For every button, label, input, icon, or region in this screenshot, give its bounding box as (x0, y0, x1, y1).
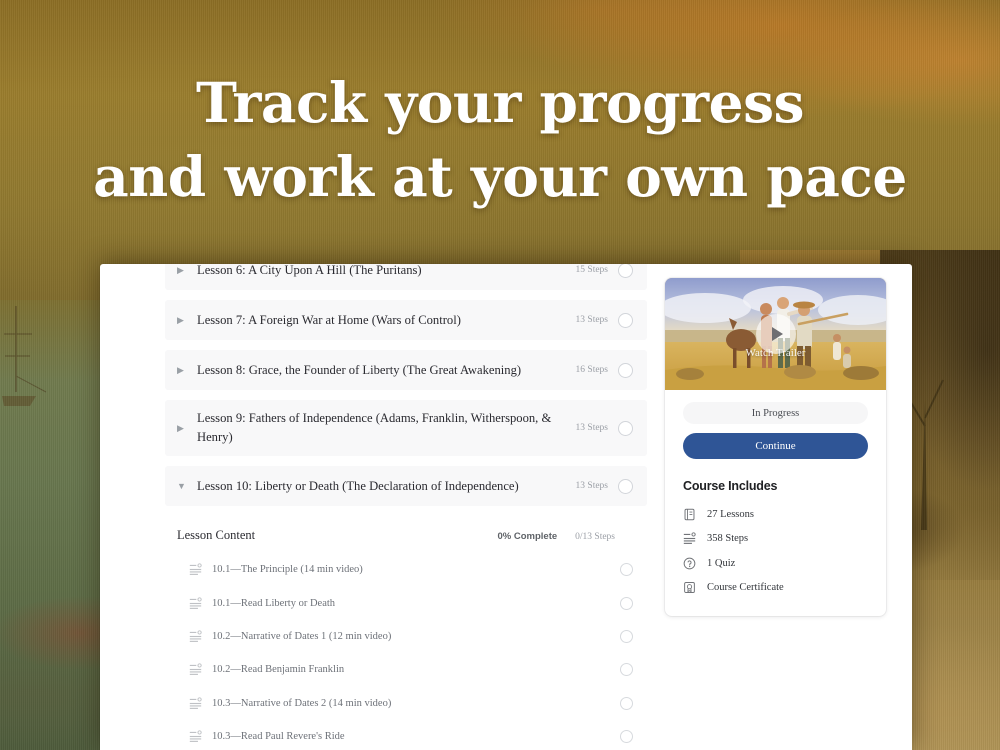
list-item[interactable]: 10.3—Narrative of Dates 2 (14 min video) (165, 687, 647, 720)
step-completion-ring[interactable] (620, 630, 633, 643)
lesson-title: Lesson 6: A City Upon A Hill (The Purita… (197, 264, 564, 280)
lesson-row[interactable]: ▶ Lesson 8: Grace, the Founder of Libert… (165, 350, 647, 390)
lesson-row[interactable]: ▶ Lesson 7: A Foreign War at Home (Wars … (165, 300, 647, 340)
list-item[interactable]: 10.1—Read Liberty or Death (165, 586, 647, 619)
lesson-step-count: 16 Steps (564, 363, 618, 377)
includes-label: 1 Quiz (707, 558, 735, 569)
page-headline: Track your progress and work at your own… (0, 66, 1000, 214)
step-completion-ring[interactable] (620, 697, 633, 710)
lesson-completion-ring[interactable] (618, 479, 633, 494)
step-completion-ring[interactable] (620, 663, 633, 676)
step-label: 10.1—The Principle (14 min video) (212, 564, 620, 575)
course-sidebar-column: Watch Trailer In Progress Continue Cours… (665, 264, 912, 750)
steps-icon (189, 597, 202, 610)
steps-icon (189, 663, 202, 676)
list-item[interactable]: 10.3—Read Paul Revere's Ride (165, 720, 647, 750)
background-stage: Track your progress and work at your own… (0, 0, 1000, 750)
includes-label: 27 Lessons (707, 509, 754, 520)
lesson-completion-ring[interactable] (618, 363, 633, 378)
lesson-title: Lesson 8: Grace, the Founder of Liberty … (197, 361, 564, 380)
book-icon (683, 508, 696, 521)
status-badge: In Progress (683, 402, 868, 424)
lesson-step-list: 10.1—The Principle (14 min video) 10.1—R… (100, 553, 665, 750)
step-label: 10.2—Narrative of Dates 1 (12 min video) (212, 631, 620, 642)
course-info-card: Watch Trailer In Progress Continue Cours… (665, 278, 886, 616)
list-item: 1 Quiz (683, 551, 868, 576)
course-card-body: In Progress Continue Course Includes 27 … (665, 390, 886, 600)
chevron-right-icon[interactable]: ▶ (177, 366, 189, 375)
lesson-accordion-list: ▶ Lesson 6: A City Upon A Hill (The Puri… (100, 264, 665, 506)
lesson-title: Lesson 10: Liberty or Death (The Declara… (197, 477, 564, 496)
lesson-row[interactable]: ▶ Lesson 9: Fathers of Independence (Ada… (165, 400, 647, 456)
lesson-step-count: 13 Steps (564, 479, 618, 493)
ship-silhouette-icon (2, 300, 62, 430)
step-completion-ring[interactable] (620, 730, 633, 743)
includes-label: 358 Steps (707, 533, 748, 544)
chevron-down-icon[interactable]: ▼ (177, 482, 189, 491)
chevron-right-icon[interactable]: ▶ (177, 424, 189, 433)
lesson-content-header: Lesson Content 0% Complete 0/13 Steps (165, 516, 647, 553)
lesson-step-count: 15 Steps (564, 264, 618, 277)
lesson-completion-ring[interactable] (618, 421, 633, 436)
lesson-content-title: Lesson Content (177, 528, 497, 543)
chevron-right-icon[interactable]: ▶ (177, 266, 189, 275)
step-completion-ring[interactable] (620, 597, 633, 610)
step-label: 10.3—Read Paul Revere's Ride (212, 731, 620, 742)
list-item: 358 Steps (683, 527, 868, 552)
lesson-title: Lesson 9: Fathers of Independence (Adams… (197, 409, 564, 447)
lesson-completion-ring[interactable] (618, 264, 633, 278)
steps-icon (189, 563, 202, 576)
question-circle-icon (683, 557, 696, 570)
steps-icon (189, 697, 202, 710)
lesson-percent-complete: 0% Complete (497, 531, 557, 542)
play-icon[interactable] (756, 314, 796, 354)
includes-label: Course Certificate (707, 582, 784, 593)
list-item[interactable]: 10.2—Read Benjamin Franklin (165, 653, 647, 686)
lesson-row-expanded[interactable]: ▼ Lesson 10: Liberty or Death (The Decla… (165, 466, 647, 506)
lesson-step-count: 13 Steps (564, 313, 618, 327)
course-app-panel: ▶ Lesson 6: A City Upon A Hill (The Puri… (100, 264, 912, 750)
play-triangle-icon (772, 327, 783, 341)
chevron-right-icon[interactable]: ▶ (177, 316, 189, 325)
list-item[interactable]: 10.2—Narrative of Dates 1 (12 min video) (165, 620, 647, 653)
headline-line-1: Track your progress (0, 66, 1000, 140)
list-item: 27 Lessons (683, 502, 868, 527)
steps-icon (683, 532, 696, 545)
lesson-row[interactable]: ▶ Lesson 6: A City Upon A Hill (The Puri… (165, 264, 647, 290)
lesson-completion-ring[interactable] (618, 313, 633, 328)
lesson-steps-progress: 0/13 Steps (575, 532, 615, 542)
certificate-icon (683, 581, 696, 594)
continue-button[interactable]: Continue (683, 433, 868, 459)
lesson-step-count: 13 Steps (564, 421, 618, 436)
step-label: 10.2—Read Benjamin Franklin (212, 664, 620, 675)
step-label: 10.3—Narrative of Dates 2 (14 min video) (212, 698, 620, 709)
headline-line-2: and work at your own pace (0, 140, 1000, 214)
list-item: Course Certificate (683, 576, 868, 601)
course-outline-column: ▶ Lesson 6: A City Upon A Hill (The Puri… (100, 264, 665, 750)
course-includes-title: Course Includes (683, 479, 868, 493)
step-completion-ring[interactable] (620, 563, 633, 576)
step-label: 10.1—Read Liberty or Death (212, 598, 620, 609)
lesson-title: Lesson 7: A Foreign War at Home (Wars of… (197, 311, 564, 330)
steps-icon (189, 730, 202, 743)
list-item[interactable]: 10.1—The Principle (14 min video) (165, 553, 647, 586)
steps-icon (189, 630, 202, 643)
trailer-thumbnail[interactable]: Watch Trailer (665, 278, 886, 390)
